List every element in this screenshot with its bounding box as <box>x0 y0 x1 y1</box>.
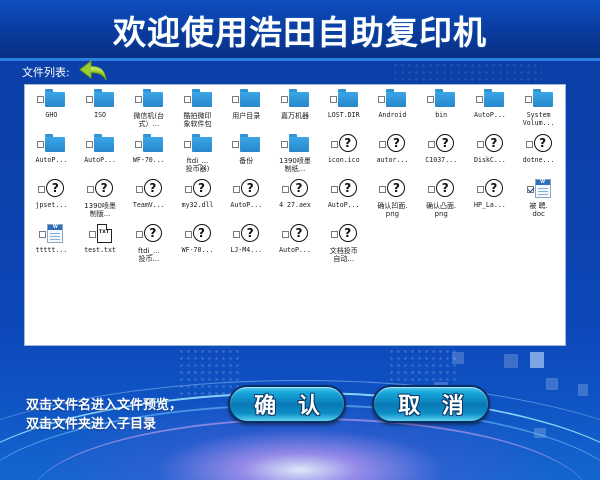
file-item[interactable]: ?icon.ico <box>319 134 368 179</box>
file-item-label: ttttt... <box>28 247 74 255</box>
file-item[interactable]: 嘉万机器 <box>271 89 320 134</box>
unknown-file-icon: ? <box>144 179 162 197</box>
file-list-label: 文件列表: <box>22 64 70 80</box>
file-item[interactable]: Wttttt... <box>27 224 76 269</box>
text-file-icon: TXT <box>97 224 112 243</box>
file-select-checkbox[interactable] <box>282 231 289 238</box>
file-select-checkbox[interactable] <box>428 141 435 148</box>
folder-icon <box>240 134 260 152</box>
folder-icon <box>338 89 358 107</box>
file-select-checkbox[interactable] <box>525 96 532 103</box>
file-select-checkbox[interactable] <box>89 231 96 238</box>
file-select-checkbox[interactable] <box>37 96 44 103</box>
file-item-label: 4 27.aex <box>272 202 318 210</box>
decor-square-3 <box>530 352 544 368</box>
file-select-checkbox[interactable] <box>477 186 484 193</box>
decor-square-5 <box>546 378 558 390</box>
confirm-button[interactable]: 确 认 <box>228 385 346 423</box>
file-item[interactable]: ISO <box>76 89 125 134</box>
file-item-label: 文档投币 自动... <box>321 247 367 263</box>
file-item[interactable]: ?TeamV... <box>124 179 173 224</box>
decor-square-6 <box>578 384 588 396</box>
file-item-label: ISO <box>77 112 123 120</box>
file-item[interactable]: ?my32.dll <box>173 179 222 224</box>
file-item[interactable]: ftdi_... 投币器) <box>173 134 222 179</box>
file-select-checkbox[interactable] <box>476 96 483 103</box>
folder-icon <box>192 134 212 152</box>
unknown-file-icon: ? <box>46 179 64 197</box>
file-item-label: 备份 <box>223 157 269 165</box>
file-item-label: Android <box>369 112 415 120</box>
file-item-label: AutoP... <box>223 202 269 210</box>
file-item[interactable]: ?AutoP... <box>319 179 368 224</box>
file-item[interactable]: ?4 27.aex <box>271 179 320 224</box>
file-select-checkbox[interactable] <box>378 96 385 103</box>
folder-icon <box>45 89 65 107</box>
unknown-file-icon: ? <box>387 179 405 197</box>
unknown-file-icon: ? <box>241 179 259 197</box>
file-item[interactable]: ?LJ-M4... <box>222 224 271 269</box>
unknown-file-icon: ? <box>241 224 259 242</box>
file-item-label: 确认凸面. png <box>418 202 464 218</box>
file-item-label: AutoP... <box>321 202 367 210</box>
file-select-checkbox[interactable] <box>379 141 386 148</box>
file-select-checkbox[interactable] <box>232 96 239 103</box>
folder-icon <box>143 134 163 152</box>
folder-icon <box>289 89 309 107</box>
decor-square-2 <box>504 354 518 368</box>
unknown-file-icon: ? <box>485 134 503 152</box>
file-select-checkbox[interactable] <box>427 96 434 103</box>
file-select-checkbox[interactable] <box>526 141 533 148</box>
unknown-file-icon: ? <box>534 134 552 152</box>
dot-pattern-header <box>392 62 542 82</box>
file-select-checkbox[interactable] <box>233 186 240 193</box>
file-item[interactable]: ?ftdi_... 投币... <box>124 224 173 269</box>
file-select-checkbox[interactable] <box>331 141 338 148</box>
file-item-label: AutoP... <box>272 247 318 255</box>
file-item-label: LJ-M4... <box>223 247 269 255</box>
file-item-label: test.txt <box>77 247 123 255</box>
unknown-file-icon: ? <box>339 179 357 197</box>
file-item-label: WF-70... <box>126 157 172 165</box>
file-select-checkbox[interactable] <box>37 141 44 148</box>
folder-icon <box>94 89 114 107</box>
file-item[interactable]: ?1390喷墨 制版... <box>76 179 125 224</box>
file-select-checkbox[interactable] <box>86 141 93 148</box>
file-item-label: 被 聘. doc <box>516 202 562 218</box>
file-select-checkbox[interactable] <box>232 141 239 148</box>
file-item[interactable]: ?确认凸面. png <box>417 179 466 224</box>
word-doc-icon: W <box>535 179 551 198</box>
file-item-label: autor... <box>369 157 415 165</box>
file-select-checkbox[interactable] <box>379 186 386 193</box>
file-select-checkbox[interactable] <box>281 141 288 148</box>
file-select-checkbox[interactable] <box>86 96 93 103</box>
file-select-checkbox[interactable] <box>135 96 142 103</box>
file-item[interactable]: ?dotne... <box>514 134 563 179</box>
folder-icon <box>435 89 455 107</box>
file-item[interactable]: LOST.DIR <box>319 89 368 134</box>
copier-kiosk-screen: 欢迎使用浩田自助复印机 文件列表: GHOISO微信机(台 式）...酷拍微印 … <box>0 0 600 480</box>
file-select-checkbox[interactable] <box>428 186 435 193</box>
file-item[interactable]: bin <box>417 89 466 134</box>
file-item-label: 用户目录 <box>223 112 269 120</box>
file-select-checkbox[interactable] <box>184 141 191 148</box>
file-select-checkbox[interactable] <box>184 96 191 103</box>
file-item[interactable]: 酷拍微印 象软件包 <box>173 89 222 134</box>
folder-icon <box>94 134 114 152</box>
file-item[interactable]: 1390喷墨 制纸... <box>271 134 320 179</box>
file-item-label: AutoP... <box>28 157 74 165</box>
file-item[interactable]: System Volum... <box>514 89 563 134</box>
file-select-checkbox[interactable] <box>185 231 192 238</box>
folder-icon <box>289 134 309 152</box>
unknown-file-icon: ? <box>436 179 454 197</box>
word-doc-icon: W <box>47 224 63 243</box>
folder-icon <box>386 89 406 107</box>
unknown-file-icon: ? <box>436 134 454 152</box>
confirm-button-label: 确 认 <box>247 388 327 420</box>
file-item-label: 1390喷墨 制纸... <box>272 157 318 173</box>
back-arrow-icon[interactable] <box>78 58 110 84</box>
file-item[interactable]: ?DiskC... <box>466 134 515 179</box>
file-item[interactable]: 微信机(台 式）... <box>124 89 173 134</box>
file-item-label: 嘉万机器 <box>272 112 318 120</box>
file-select-checkbox[interactable] <box>136 186 143 193</box>
unknown-file-icon: ? <box>485 179 503 197</box>
decor-square-1 <box>452 352 464 364</box>
unknown-file-icon: ? <box>339 134 357 152</box>
folder-icon <box>45 134 65 152</box>
unknown-file-icon: ? <box>387 134 405 152</box>
file-item-label: AutoP... <box>467 112 513 120</box>
file-item[interactable]: AutoP... <box>76 134 125 179</box>
unknown-file-icon: ? <box>290 224 308 242</box>
file-item[interactable]: ?WF-70... <box>173 224 222 269</box>
file-item[interactable]: Android <box>368 89 417 134</box>
file-item-label: 确认凹面. png <box>369 202 415 218</box>
usage-hint-line2: 双击文件夹进入子目录 <box>26 415 182 434</box>
file-select-checkbox[interactable] <box>39 231 46 238</box>
file-item-label: DiskC... <box>467 157 513 165</box>
file-item-label: 酷拍微印 象软件包 <box>175 112 221 128</box>
file-select-checkbox[interactable] <box>331 231 338 238</box>
file-item[interactable]: W被 聘. doc <box>514 179 563 224</box>
unknown-file-icon: ? <box>339 224 357 242</box>
file-item[interactable]: ?AutoP... <box>222 179 271 224</box>
file-select-checkbox[interactable] <box>185 186 192 193</box>
file-item-label: AutoP... <box>77 157 123 165</box>
file-select-checkbox[interactable] <box>87 186 94 193</box>
file-select-checkbox[interactable] <box>330 96 337 103</box>
dot-pattern-right <box>388 348 460 388</box>
file-item[interactable]: AutoP... <box>27 134 76 179</box>
file-select-checkbox[interactable] <box>331 186 338 193</box>
file-item[interactable]: ?AutoP... <box>271 224 320 269</box>
file-item-label: jpset... <box>28 202 74 210</box>
unknown-file-icon: ? <box>193 179 211 197</box>
file-item-label: LOST.DIR <box>321 112 367 120</box>
file-item-label: WF-70... <box>175 247 221 255</box>
unknown-file-icon: ? <box>290 179 308 197</box>
file-list-panel: GHOISO微信机(台 式）...酷拍微印 象软件包用户目录嘉万机器LOST.D… <box>24 84 566 346</box>
file-item-label: ftdi_... 投币器) <box>175 157 221 173</box>
file-item-label: bin <box>418 112 464 120</box>
file-item[interactable]: GHO <box>27 89 76 134</box>
file-select-checkbox[interactable] <box>135 141 142 148</box>
file-item-label: HP_La... <box>467 202 513 210</box>
file-item-label: ftdi_... 投币... <box>126 247 172 263</box>
file-item[interactable]: ?确认凹面. png <box>368 179 417 224</box>
file-item[interactable]: AutoP... <box>466 89 515 134</box>
file-item-label: my32.dll <box>175 202 221 210</box>
cancel-button[interactable]: 取 消 <box>372 385 490 423</box>
file-item[interactable]: ?jpset... <box>27 179 76 224</box>
file-item[interactable]: 用户目录 <box>222 89 271 134</box>
folder-icon <box>240 89 260 107</box>
file-item-label: icon.ico <box>321 157 367 165</box>
page-title: 欢迎使用浩田自助复印机 <box>0 6 600 54</box>
file-item[interactable]: ?C1037... <box>417 134 466 179</box>
file-item-label: GHO <box>28 112 74 120</box>
file-item-label: C1037... <box>418 157 464 165</box>
file-select-checkbox[interactable] <box>477 141 484 148</box>
file-select-checkbox[interactable] <box>282 186 289 193</box>
unknown-file-icon: ? <box>193 224 211 242</box>
folder-icon <box>192 89 212 107</box>
file-item-label: 1390喷墨 制版... <box>77 202 123 218</box>
file-item[interactable]: TXTtest.txt <box>76 224 125 269</box>
file-item[interactable]: ?autor... <box>368 134 417 179</box>
file-item-label: 微信机(台 式）... <box>126 112 172 128</box>
unknown-file-icon: ? <box>144 224 162 242</box>
file-select-checkbox[interactable] <box>136 231 143 238</box>
file-select-checkbox[interactable] <box>281 96 288 103</box>
file-select-checkbox[interactable] <box>527 186 534 193</box>
file-select-checkbox[interactable] <box>38 186 45 193</box>
file-grid: GHOISO微信机(台 式）...酷拍微印 象软件包用户目录嘉万机器LOST.D… <box>25 85 565 345</box>
usage-hint: 双击文件名进入文件预览， 双击文件夹进入子目录 <box>26 396 182 434</box>
file-item-label: dotne... <box>516 157 562 165</box>
folder-icon <box>143 89 163 107</box>
cancel-button-label: 取 消 <box>391 388 471 420</box>
unknown-file-icon: ? <box>95 179 113 197</box>
file-item[interactable]: 备份 <box>222 134 271 179</box>
file-item-label: TeamV... <box>126 202 172 210</box>
file-item-label: System Volum... <box>516 112 562 127</box>
file-select-checkbox[interactable] <box>233 231 240 238</box>
file-item[interactable]: ?文档投币 自动... <box>319 224 368 269</box>
folder-icon <box>533 89 553 107</box>
folder-icon <box>484 89 504 107</box>
file-item[interactable]: WF-70... <box>124 134 173 179</box>
file-item[interactable]: ?HP_La... <box>466 179 515 224</box>
usage-hint-line1: 双击文件名进入文件预览， <box>26 396 182 415</box>
